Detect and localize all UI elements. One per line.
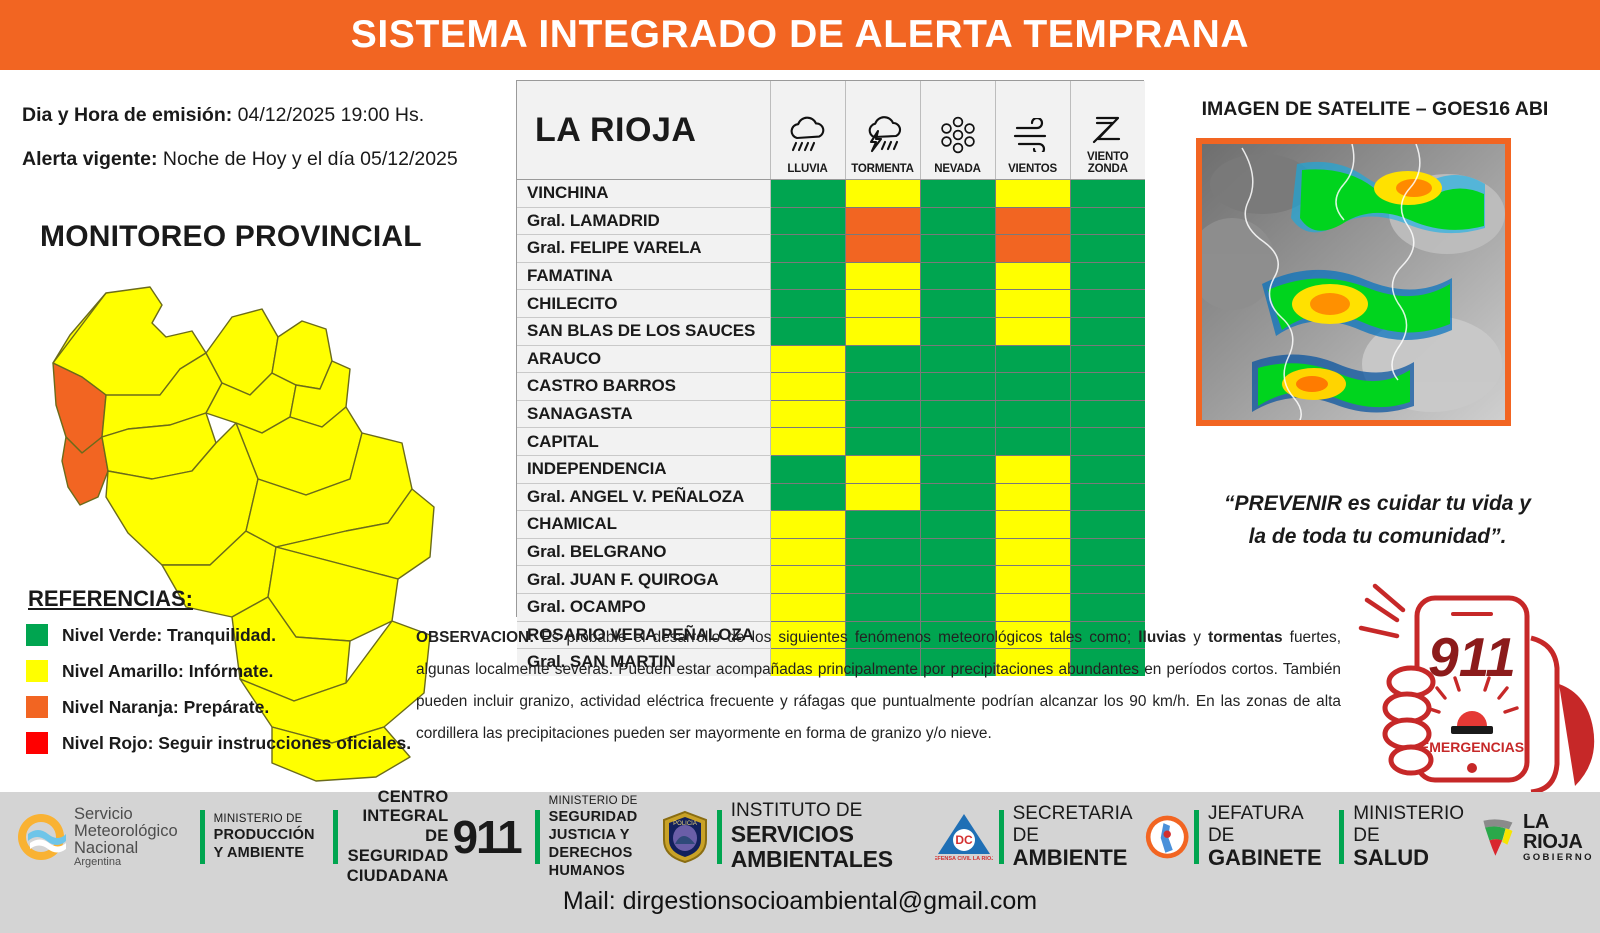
divider-bar [333, 810, 338, 864]
alert-cell-vientos-amarillo [995, 290, 1070, 318]
alert-cell-viento-zonda-verde [1070, 400, 1145, 428]
validity-value: Noche de Hoy y el día 05/12/2025 [157, 148, 457, 170]
table-row: SAN BLAS DE LOS SAUCES [517, 317, 1145, 345]
table-body: VINCHINAGral. LAMADRIDGral. FELIPE VAREL… [517, 180, 1145, 676]
footer: Servicio Meteorológico Nacional Argentin… [0, 792, 1600, 933]
reference-item-naranja: Nivel Naranja: Prepárate. [26, 696, 446, 718]
department-name: Gral. JUAN F. QUIROGA [517, 566, 770, 594]
provincial-seal-icon [1144, 812, 1190, 862]
cis-line-3: CIUDADANA [347, 867, 449, 887]
column-header-vientos: VIENTOS [995, 81, 1070, 180]
sec-ambiente-line-1: SECRETARIA DE [1013, 803, 1132, 846]
alert-cell-lluvia-verde [770, 262, 845, 290]
alert-cell-nevada-verde [920, 345, 995, 373]
alert-cell-viento-zonda-verde [1070, 373, 1145, 401]
alert-cell-vientos-amarillo [995, 593, 1070, 621]
alert-cell-nevada-verde [920, 566, 995, 594]
department-name: Gral. BELGRANO [517, 538, 770, 566]
emission-datetime: Dia y Hora de emisión: 04/12/2025 19:00 … [22, 104, 424, 127]
alert-cell-viento-zonda-verde [1070, 235, 1145, 263]
alert-cell-tormenta-verde [845, 566, 920, 594]
alert-cell-nevada-verde [920, 455, 995, 483]
reference-label-amarillo: Nivel Amarillo: Infórmate. [62, 661, 273, 682]
rain-icon [771, 109, 845, 161]
alert-cell-vientos-verde [995, 400, 1070, 428]
alert-cell-viento-zonda-verde [1070, 483, 1145, 511]
alert-cell-viento-zonda-verde [1070, 207, 1145, 235]
column-header-tormenta: TORMENTA [845, 81, 920, 180]
logo-ministerio-produccion-ambiente: MINISTERIO DE PRODUCCIÓN Y AMBIENTE [196, 802, 315, 872]
alert-cell-lluvia-verde [770, 235, 845, 263]
emission-label: Dia y Hora de emisión: [22, 104, 232, 126]
alert-cell-nevada-verde [920, 290, 995, 318]
alert-cell-viento-zonda-verde [1070, 428, 1145, 456]
right-panel: IMAGEN DE SATELITE – GOES16 ABI [1150, 70, 1600, 792]
alert-cell-lluvia-amarillo [770, 345, 845, 373]
emergency-number: 911 [1428, 626, 1516, 688]
swatch-amarillo [26, 660, 48, 682]
alert-matrix-table: LA RIOJA LLUVIA [516, 80, 1144, 617]
alert-cell-viento-zonda-verde [1070, 538, 1145, 566]
produccion-line-2: PRODUCCIÓN Y AMBIENTE [214, 826, 315, 862]
alert-cell-nevada-verde [920, 511, 995, 539]
alert-cell-nevada-verde [920, 400, 995, 428]
zonda-wind-icon [1071, 109, 1146, 149]
alert-cell-vientos-amarillo [995, 566, 1070, 594]
reference-item-rojo: Nivel Rojo: Seguir instrucciones oficial… [26, 732, 446, 754]
divider-bar [200, 810, 205, 864]
gabinete-line-2: GABINETE [1208, 846, 1325, 871]
reference-label-naranja: Nivel Naranja: Prepárate. [62, 697, 269, 718]
alert-cell-vientos-amarillo [995, 511, 1070, 539]
table-row: Gral. JUAN F. QUIROGA [517, 566, 1145, 594]
references-title: REFERENCIAS: [28, 586, 193, 612]
alert-cell-tormenta-amarillo [845, 455, 920, 483]
page-header-bar: SISTEMA INTEGRADO DE ALERTA TEMPRANA [0, 0, 1600, 70]
msj-line-2: SEGURIDAD JUSTICIA Y DERECHOS HUMANOS [549, 808, 655, 881]
defensa-civil-icon: DC DEFENSA CIVIL LA RIOJA [935, 810, 993, 864]
alert-validity: Alerta vigente: Noche de Hoy y el día 05… [22, 148, 458, 171]
prevention-quote: “PREVENIR es cuidar tu vida y la de toda… [1155, 488, 1600, 553]
observation-text-1: Es probable el desarrollo de los siguien… [534, 629, 1138, 646]
table-header-row: LA RIOJA LLUVIA [517, 81, 1145, 180]
department-name: SAN BLAS DE LOS SAUCES [517, 317, 770, 345]
isa-line-2: SERVICIOS AMBIENTALES [731, 822, 923, 873]
alert-cell-lluvia-verde [770, 317, 845, 345]
cis-line-1: CENTRO INTEGRAL [347, 788, 449, 828]
alert-cell-lluvia-amarillo [770, 538, 845, 566]
column-header-viento-zonda: VIENTO ZONDA [1070, 81, 1145, 180]
police-shield-label: POLICIA [673, 821, 697, 827]
department-name: CASTRO BARROS [517, 373, 770, 401]
smn-line-2: Meteorológico [74, 823, 178, 840]
table-row: CHILECITO [517, 290, 1145, 318]
logo-servicio-meteorologico-nacional: Servicio Meteorológico Nacional Argentin… [14, 802, 178, 872]
emergency-caption: EMERGENCIAS [1420, 739, 1524, 755]
alert-cell-nevada-verde [920, 373, 995, 401]
alert-cell-viento-zonda-verde [1070, 180, 1145, 208]
alert-cell-lluvia-verde [770, 180, 845, 208]
table-row: Gral. LAMADRID [517, 207, 1145, 235]
department-name: FAMATINA [517, 262, 770, 290]
column-label-nevada: NEVADA [921, 163, 995, 175]
validity-label: Alerta vigente: [22, 148, 157, 170]
table-row: INDEPENDENCIA [517, 455, 1145, 483]
alert-cell-lluvia-verde [770, 455, 845, 483]
table-row: Gral. FELIPE VARELA [517, 235, 1145, 263]
contact-mail: Mail: dirgestionsocioambiental@gmail.com [0, 887, 1600, 916]
alert-cell-vientos-verde [995, 373, 1070, 401]
alert-cell-viento-zonda-verde [1070, 566, 1145, 594]
alert-cell-nevada-verde [920, 235, 995, 263]
logo-secretaria-ambiente: SECRETARIA DE AMBIENTE [995, 802, 1132, 872]
msj-line-1: MINISTERIO DE [549, 794, 655, 808]
cis-911-number: 911 [452, 810, 520, 864]
alert-cell-tormenta-verde [845, 593, 920, 621]
police-shield-icon: POLICIA [661, 810, 709, 864]
reference-label-rojo: Nivel Rojo: Seguir instrucciones oficial… [62, 733, 411, 754]
divider-bar [717, 810, 722, 864]
alert-cell-lluvia-amarillo [770, 511, 845, 539]
isa-line-1: INSTITUTO DE [731, 801, 923, 822]
table-row: VINCHINA [517, 180, 1145, 208]
alert-cell-viento-zonda-verde [1070, 345, 1145, 373]
alert-cell-lluvia-verde [770, 207, 845, 235]
thunderstorm-icon [846, 109, 920, 161]
observation-label: OBSERVACION: [416, 629, 534, 646]
table-corner-title: LA RIOJA [517, 81, 770, 180]
table-row: ARAUCO [517, 345, 1145, 373]
alert-cell-viento-zonda-verde [1070, 262, 1145, 290]
sec-ambiente-line-2: AMBIENTE [1013, 846, 1132, 871]
alert-cell-nevada-verde [920, 180, 995, 208]
monitoring-title: MONITOREO PROVINCIAL [40, 220, 422, 254]
alert-cell-tormenta-amarillo [845, 483, 920, 511]
quote-line-1: “PREVENIR es cuidar tu vida y [1155, 488, 1600, 521]
smn-line-4: Argentina [74, 857, 178, 868]
divider-bar [1194, 810, 1199, 864]
smn-line-3: Nacional [74, 840, 178, 857]
alert-cell-viento-zonda-verde [1070, 455, 1145, 483]
alert-cell-tormenta-amarillo [845, 262, 920, 290]
department-name: Gral. OCAMPO [517, 593, 770, 621]
alert-cell-vientos-amarillo [995, 483, 1070, 511]
alert-cell-tormenta-verde [845, 428, 920, 456]
reference-label-verde: Nivel Verde: Tranquilidad. [62, 625, 276, 646]
alert-cell-vientos-verde [995, 428, 1070, 456]
alert-cell-viento-zonda-verde [1070, 593, 1145, 621]
alert-cell-viento-zonda-verde [1070, 290, 1145, 318]
alert-cell-tormenta-naranja [845, 207, 920, 235]
department-name: Gral. ANGEL V. PEÑALOZA [517, 483, 770, 511]
swatch-rojo [26, 732, 48, 754]
column-label-lluvia: LLUVIA [771, 163, 845, 175]
alert-cell-tormenta-amarillo [845, 317, 920, 345]
smn-line-1: Servicio [74, 806, 178, 823]
alert-cell-tormenta-verde [845, 511, 920, 539]
hand-phone-911-icon: 911 EMERGENCIAS [1345, 580, 1600, 792]
department-name: CAPITAL [517, 428, 770, 456]
alert-cell-lluvia-verde [770, 290, 845, 318]
page-title: SISTEMA INTEGRADO DE ALERTA TEMPRANA [351, 13, 1249, 57]
alert-cell-tormenta-naranja [845, 235, 920, 263]
la-rioja-line-2: GOBIERNO [1523, 852, 1600, 863]
table-row: CASTRO BARROS [517, 373, 1145, 401]
alert-cell-lluvia-amarillo [770, 566, 845, 594]
references-legend: REFERENCIAS: Nivel Verde: Tranquilidad. … [26, 586, 446, 768]
logo-centro-integral-seguridad: CENTRO INTEGRAL DE SEGURIDAD CIUDADANA 9… [329, 802, 521, 872]
salud-line-1: MINISTERIO DE [1353, 803, 1464, 846]
alert-cell-tormenta-verde [845, 373, 920, 401]
alert-cell-vientos-naranja [995, 207, 1070, 235]
alert-cell-nevada-verde [920, 593, 995, 621]
gabinete-line-1: JEFATURA DE [1208, 803, 1325, 846]
alert-cell-nevada-verde [920, 483, 995, 511]
column-header-nevada: NEVADA [920, 81, 995, 180]
reference-item-amarillo: Nivel Amarillo: Infórmate. [26, 660, 446, 682]
emission-value: 04/12/2025 19:00 Hs. [232, 104, 424, 126]
logo-instituto-servicios-ambientales: INSTITUTO DE SERVICIOS AMBIENTALES [713, 802, 923, 872]
satellite-title: IMAGEN DE SATELITE – GOES16 ABI [1150, 98, 1600, 121]
satellite-image [1196, 138, 1511, 426]
table-row: Gral. BELGRANO [517, 538, 1145, 566]
column-label-tormenta: TORMENTA [846, 163, 920, 175]
alert-cell-vientos-naranja [995, 235, 1070, 263]
alert-cell-lluvia-amarillo [770, 593, 845, 621]
alert-cell-tormenta-amarillo [845, 290, 920, 318]
table-row: Gral. OCAMPO [517, 593, 1145, 621]
alert-cell-vientos-verde [995, 345, 1070, 373]
alert-cell-nevada-verde [920, 262, 995, 290]
smn-emblem-icon [14, 810, 68, 864]
alert-cell-viento-zonda-verde [1070, 511, 1145, 539]
department-name: VINCHINA [517, 180, 770, 208]
salud-line-2: SALUD [1353, 846, 1464, 871]
divider-bar [999, 810, 1004, 864]
alert-cell-vientos-amarillo [995, 262, 1070, 290]
logo-ministerio-salud: MINISTERIO DE SALUD [1335, 802, 1464, 872]
department-name: INDEPENDENCIA [517, 455, 770, 483]
alert-cell-nevada-verde [920, 207, 995, 235]
emergency-911-graphic: 911 EMERGENCIAS [1345, 580, 1600, 792]
table-row: SANAGASTA [517, 400, 1145, 428]
column-label-viento-zonda: VIENTO ZONDA [1071, 151, 1146, 175]
logo-policia-la-rioja: POLICIA [661, 802, 709, 872]
alert-cell-lluvia-verde [770, 483, 845, 511]
reference-item-verde: Nivel Verde: Tranquilidad. [26, 624, 446, 646]
alert-cell-vientos-amarillo [995, 455, 1070, 483]
logo-ministerio-seguridad-justicia: MINISTERIO DE SEGURIDAD JUSTICIA Y DEREC… [531, 802, 655, 872]
logo-jefatura-gabinete: JEFATURA DE GABINETE [1144, 802, 1326, 872]
alert-cell-tormenta-verde [845, 538, 920, 566]
cis-line-2: DE SEGURIDAD [347, 827, 449, 867]
alert-cell-tormenta-amarillo [845, 180, 920, 208]
snowflake-icon [921, 109, 995, 161]
department-name: SANAGASTA [517, 400, 770, 428]
alert-cell-vientos-amarillo [995, 538, 1070, 566]
alert-cell-viento-zonda-verde [1070, 317, 1145, 345]
table-row: CHAMICAL [517, 511, 1145, 539]
logo-defensa-civil: DC DEFENSA CIVIL LA RIOJA [935, 802, 993, 872]
smn-text: Servicio Meteorológico Nacional Argentin… [74, 806, 178, 869]
satellite-image-svg [1202, 144, 1505, 420]
alert-cell-lluvia-amarillo [770, 428, 845, 456]
table-row: Gral. ANGEL V. PEÑALOZA [517, 483, 1145, 511]
department-name: CHAMICAL [517, 511, 770, 539]
column-header-lluvia: LLUVIA [770, 81, 845, 180]
quote-line-2: la de toda tu comunidad”. [1155, 521, 1600, 554]
divider-bar [535, 810, 540, 864]
table-row: FAMATINA [517, 262, 1145, 290]
alert-cell-vientos-amarillo [995, 317, 1070, 345]
department-name: ARAUCO [517, 345, 770, 373]
la-rioja-line-1: LA RIOJA [1523, 812, 1600, 852]
alert-cell-tormenta-verde [845, 345, 920, 373]
dc-label: DC [955, 833, 973, 847]
column-label-vientos: VIENTOS [996, 163, 1070, 175]
divider-bar [1339, 810, 1344, 864]
dc-sublabel: DEFENSA CIVIL LA RIOJA [935, 856, 993, 862]
department-name: CHILECITO [517, 290, 770, 318]
alert-cell-vientos-amarillo [995, 180, 1070, 208]
alert-cell-nevada-verde [920, 428, 995, 456]
footer-logos: Servicio Meteorológico Nacional Argentin… [0, 800, 1600, 874]
department-name: Gral. LAMADRID [517, 207, 770, 235]
alert-cell-lluvia-amarillo [770, 400, 845, 428]
table-row: CAPITAL [517, 428, 1145, 456]
produccion-line-1: MINISTERIO DE [214, 812, 315, 826]
la-rioja-flag-icon [1480, 812, 1516, 862]
alert-cell-lluvia-amarillo [770, 373, 845, 401]
alert-cell-tormenta-verde [845, 400, 920, 428]
alert-cell-nevada-verde [920, 317, 995, 345]
wind-icon [996, 109, 1070, 161]
swatch-verde [26, 624, 48, 646]
swatch-naranja [26, 696, 48, 718]
department-name: Gral. FELIPE VARELA [517, 235, 770, 263]
logo-la-rioja-gobierno: LA RIOJA GOBIERNO [1480, 802, 1600, 872]
alert-cell-nevada-verde [920, 538, 995, 566]
